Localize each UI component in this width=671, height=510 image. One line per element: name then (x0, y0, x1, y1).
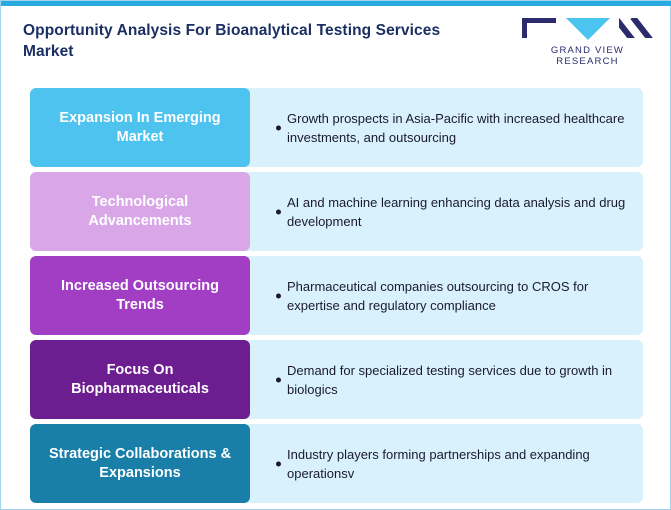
grand-view-research-logo: GRAND VIEW RESEARCH (522, 18, 653, 66)
opportunity-description-panel: Industry players forming partnerships an… (235, 424, 643, 503)
bullet-icon (276, 293, 281, 298)
opportunity-row: Pharmaceutical companies outsourcing to … (30, 256, 643, 335)
opportunity-rows: Growth prospects in Asia-Pacific with in… (30, 88, 643, 508)
infographic-page: Opportunity Analysis For Bioanalytical T… (0, 0, 671, 510)
opportunity-row: AI and machine learning enhancing data a… (30, 172, 643, 251)
header: Opportunity Analysis For Bioanalytical T… (1, 6, 671, 79)
opportunity-description: Growth prospects in Asia-Pacific with in… (235, 109, 643, 147)
opportunity-label-expansion-in-emerging-market[interactable]: Expansion In Emerging Market (30, 88, 250, 167)
opportunity-description-panel: AI and machine learning enhancing data a… (235, 172, 643, 251)
opportunity-description-panel: Pharmaceutical companies outsourcing to … (235, 256, 643, 335)
opportunity-row: Growth prospects in Asia-Pacific with in… (30, 88, 643, 167)
opportunity-description: Demand for specialized testing services … (235, 361, 643, 399)
opportunity-description-panel: Growth prospects in Asia-Pacific with in… (235, 88, 643, 167)
bullet-icon (276, 209, 281, 214)
logo-corner-icon (522, 18, 556, 38)
opportunity-description: AI and machine learning enhancing data a… (235, 193, 643, 231)
bullet-icon (276, 125, 281, 130)
opportunity-label-increased-outsourcing-trends[interactable]: Increased Outsourcing Trends (30, 256, 250, 335)
logo-slashes-icon (619, 18, 653, 38)
opportunity-description-panel: Demand for specialized testing services … (235, 340, 643, 419)
opportunity-description: Pharmaceutical companies outsourcing to … (235, 277, 643, 315)
opportunity-row: Demand for specialized testing services … (30, 340, 643, 419)
logo-triangle-icon (566, 18, 610, 40)
opportunity-label-strategic-collaborations-expansions[interactable]: Strategic Collaborations & Expansions (30, 424, 250, 503)
logo-wordmark: GRAND VIEW RESEARCH (522, 45, 653, 67)
opportunity-row: Industry players forming partnerships an… (30, 424, 643, 503)
opportunity-description: Industry players forming partnerships an… (235, 445, 643, 483)
opportunity-label-focus-on-biopharmaceuticals[interactable]: Focus On Biopharmaceuticals (30, 340, 250, 419)
page-title: Opportunity Analysis For Bioanalytical T… (23, 20, 493, 62)
bullet-icon (276, 377, 281, 382)
opportunity-label-technological-advancements[interactable]: Technological Advancements (30, 172, 250, 251)
bullet-icon (276, 461, 281, 466)
